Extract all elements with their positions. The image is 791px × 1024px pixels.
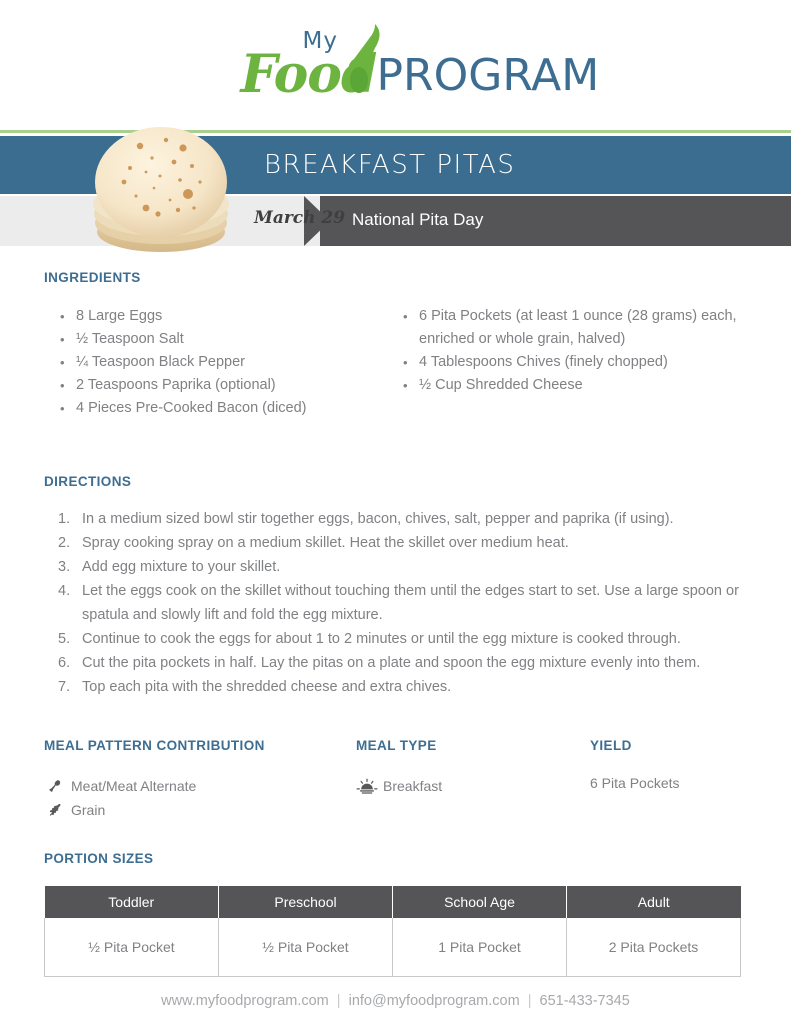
directions-section: DIRECTIONS In a medium sized bowl stir t… (44, 474, 754, 699)
list-item: 4 Tablespoons Chives (finely chopped) (417, 351, 754, 374)
yield-heading: YIELD (590, 738, 764, 753)
footer-separator: | (333, 993, 345, 1009)
portion-sizes-table: Toddler Preschool School Age Adult ½ Pit… (44, 886, 741, 977)
recipe-date: March 29 (254, 208, 345, 228)
list-item: ½ Teaspoon Salt (74, 328, 399, 351)
footer-email[interactable]: info@myfoodprogram.com (349, 993, 520, 1009)
sunrise-icon (356, 777, 378, 795)
table-cell: 2 Pita Pockets (567, 918, 741, 977)
meal-type-label: Breakfast (383, 775, 442, 797)
meal-type-heading: MEAL TYPE (356, 738, 590, 753)
pita-stack-image (88, 124, 234, 256)
list-item: Top each pita with the shredded cheese a… (76, 675, 754, 699)
meal-pattern-label: Meat/Meat Alternate (71, 775, 196, 797)
portion-sizes-heading: PORTION SIZES (44, 851, 741, 866)
table-cell: 1 Pita Pocket (393, 918, 567, 977)
list-item: Let the eggs cook on the skillet without… (76, 579, 754, 627)
footer-separator: | (524, 993, 536, 1009)
directions-heading: DIRECTIONS (44, 474, 754, 489)
list-item: ¼ Teaspoon Black Pepper (74, 351, 399, 374)
meal-type-item: Breakfast (356, 775, 590, 797)
column-header: School Age (393, 886, 567, 918)
meal-pattern-section: MEAL PATTERN CONTRIBUTION Meat/Meat Alte… (44, 738, 356, 823)
logo-lockup: My Food PROGRAM (241, 22, 551, 106)
list-item: Continue to cook the eggs for about 1 to… (76, 627, 754, 651)
holiday-name: National Pita Day (352, 210, 483, 230)
meat-icon (44, 777, 66, 795)
column-header: Toddler (45, 886, 219, 918)
page-title: BREAKFAST PITAS (264, 150, 515, 180)
list-item: 2 Teaspoons Paprika (optional) (74, 374, 399, 397)
list-item: 4 Pieces Pre-Cooked Bacon (diced) (74, 397, 399, 420)
footer-phone[interactable]: 651-433-7345 (540, 993, 630, 1009)
meal-pattern-item-meat: Meat/Meat Alternate (44, 775, 356, 797)
table-cell: ½ Pita Pocket (45, 918, 219, 977)
table-header-row: Toddler Preschool School Age Adult (45, 886, 741, 918)
column-header: Adult (567, 886, 741, 918)
ingredients-column-right: 6 Pita Pockets (at least 1 ounce (28 gra… (399, 305, 754, 420)
list-item: Spray cooking spray on a medium skillet.… (76, 531, 754, 555)
meal-pattern-heading: MEAL PATTERN CONTRIBUTION (44, 738, 356, 753)
portion-sizes-section: PORTION SIZES Toddler Preschool School A… (44, 851, 741, 977)
meal-pattern-label: Grain (71, 799, 105, 821)
meal-type-section: MEAL TYPE (356, 738, 590, 823)
brand-logo: My Food PROGRAM (0, 0, 791, 128)
list-item: 8 Large Eggs (74, 305, 399, 328)
column-header: Preschool (219, 886, 393, 918)
ingredients-section: INGREDIENTS 8 Large Eggs ½ Teaspoon Salt… (44, 270, 754, 420)
yield-value: 6 Pita Pockets (590, 775, 764, 791)
directions-list: In a medium sized bowl stir together egg… (44, 507, 754, 699)
meta-row: MEAL PATTERN CONTRIBUTION Meat/Meat Alte… (44, 738, 764, 823)
grain-icon (44, 801, 66, 819)
table-cell: ½ Pita Pocket (219, 918, 393, 977)
list-item: 6 Pita Pockets (at least 1 ounce (28 gra… (417, 305, 754, 351)
yield-section: YIELD 6 Pita Pockets (590, 738, 764, 823)
logo-program-text: PROGRAM (377, 50, 600, 101)
list-item: In a medium sized bowl stir together egg… (76, 507, 754, 531)
ingredients-column-left: 8 Large Eggs ½ Teaspoon Salt ¼ Teaspoon … (44, 305, 399, 420)
list-item: Add egg mixture to your skillet. (76, 555, 754, 579)
meal-pattern-item-grain: Grain (44, 799, 356, 821)
footer: www.myfoodprogram.com | info@myfoodprogr… (0, 993, 791, 1009)
ingredients-heading: INGREDIENTS (44, 270, 754, 285)
footer-website[interactable]: www.myfoodprogram.com (161, 993, 329, 1009)
table-row: ½ Pita Pocket ½ Pita Pocket 1 Pita Pocke… (45, 918, 741, 977)
list-item: Cut the pita pockets in half. Lay the pi… (76, 651, 754, 675)
list-item: ½ Cup Shredded Cheese (417, 374, 754, 397)
